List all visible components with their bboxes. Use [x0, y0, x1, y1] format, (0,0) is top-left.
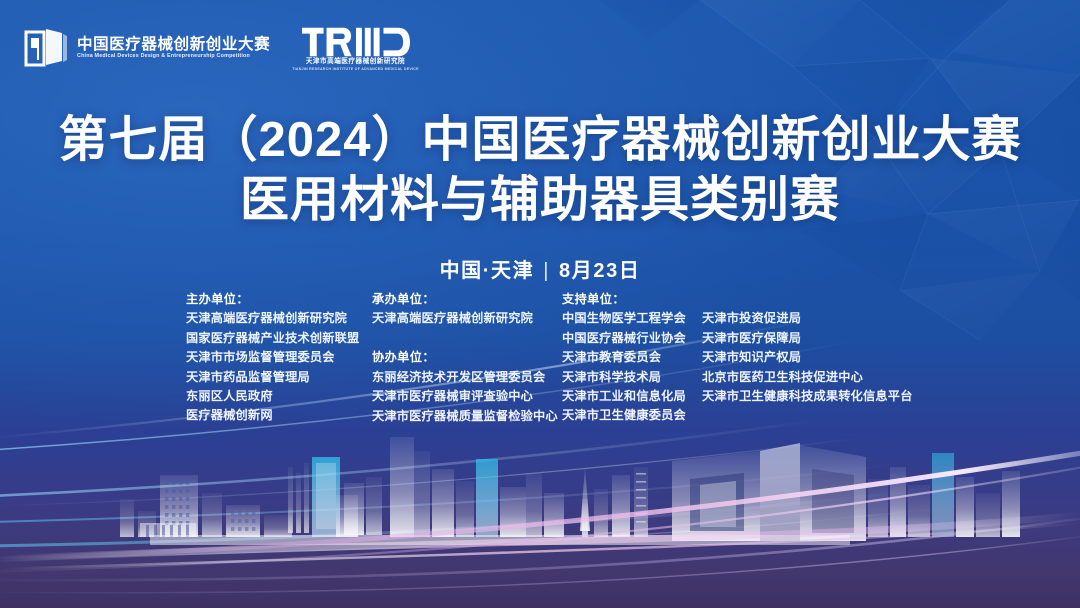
- organizer-item: 中国医疗器械行业协会: [562, 329, 702, 348]
- purple-light-sweep-decoration: [0, 430, 1080, 608]
- organizer-group: 协办单位： 东丽经济技术开发区管理委员会 天津市医疗器械审评查验中心 天津市医疗…: [372, 348, 562, 426]
- organizer-item: 天津市药品监督管理局: [186, 368, 372, 387]
- organizers-section: 主办单位： 天津高端医疗器械创新研究院 国家医疗器械产业技术创新联盟 天津市市场…: [186, 290, 946, 426]
- organizer-item: 东丽经济技术开发区管理委员会: [372, 368, 562, 387]
- organizer-item: 天津高端医疗器械创新研究院: [186, 309, 372, 328]
- institute-name-cn: 天津市高端医疗器械创新研究院: [306, 59, 405, 66]
- organizers-column-3: 支持单位： 中国生物医学工程学会 中国医疗器械行业协会 天津市教育委员会 天津市…: [562, 290, 702, 426]
- title-line-2: 医用材料与辅助器具类别赛: [0, 172, 1080, 229]
- event-date: 8月23日: [559, 260, 640, 282]
- organizer-item: 天津市知识产权局: [702, 348, 912, 367]
- poster-title-block: 第七届（2024）中国医疗器械创新创业大赛 医用材料与辅助器具类别赛: [0, 112, 1080, 229]
- organizer-item: 天津市卫生健康委员会: [562, 406, 702, 425]
- organizers-column-1: 主办单位： 天津高端医疗器械创新研究院 国家医疗器械产业技术创新联盟 天津市市场…: [186, 290, 372, 426]
- trimd-wordmark-icon: [302, 27, 410, 57]
- subtitle-separator: |: [543, 260, 550, 283]
- event-location-date: 中国·天津|8月23日: [0, 254, 1080, 283]
- poster-header: 中国医疗器械创新创业大赛 China Medical Devices Desig…: [0, 18, 1080, 78]
- organizer-item: 东丽区人民政府: [186, 387, 372, 406]
- institute-logo: 天津市高端医疗器械创新研究院 TIANJIN RESEARCH INSTITUT…: [292, 27, 419, 71]
- competition-logo: 中国医疗器械创新创业大赛 China Medical Devices Desig…: [24, 27, 270, 69]
- title-line-1: 第七届（2024）中国医疗器械创新创业大赛: [0, 112, 1080, 169]
- organizer-item: 天津市教育委员会: [562, 348, 702, 367]
- organizer-group: 主办单位： 天津高端医疗器械创新研究院 国家医疗器械产业技术创新联盟 天津市市场…: [186, 290, 372, 426]
- group-heading: 主办单位：: [186, 290, 372, 309]
- city-skyline-illustration: [0, 423, 1080, 608]
- organizer-item: 北京市医药卫生科技促进中心: [702, 368, 912, 387]
- organizer-item: 天津市投资促进局: [702, 309, 912, 328]
- group-heading: 协办单位：: [372, 348, 562, 367]
- organizer-item: 天津市市场监督管理委员会: [186, 348, 372, 367]
- organizer-group: 天津市投资促进局 天津市医疗保障局 天津市知识产权局 北京市医药卫生科技促进中心…: [702, 309, 912, 406]
- organizer-item: 天津市卫生健康科技成果转化信息平台: [702, 387, 912, 406]
- group-heading: 支持单位：: [562, 290, 702, 309]
- organizer-item: 天津市医疗器械审评查验中心: [372, 387, 562, 406]
- organizer-item: 天津高端医疗器械创新研究院: [372, 309, 562, 328]
- organizers-column-2: 承办单位： 天津高端医疗器械创新研究院 协办单位： 东丽经济技术开发区管理委员会…: [372, 290, 562, 426]
- competition-name-en: China Medical Devices Design & Entrepren…: [77, 54, 270, 60]
- open-door-book-icon: [24, 27, 68, 69]
- event-location: 中国·天津: [440, 260, 535, 282]
- organizer-item: 天津市医疗保障局: [702, 329, 912, 348]
- organizer-group: 承办单位： 天津高端医疗器械创新研究院: [372, 290, 562, 329]
- organizer-item: 天津市工业和信息化局: [562, 387, 702, 406]
- organizer-item: 国家医疗器械产业技术创新联盟: [186, 329, 372, 348]
- organizer-group: 支持单位： 中国生物医学工程学会 中国医疗器械行业协会 天津市教育委员会 天津市…: [562, 290, 702, 426]
- organizer-item: 医疗器械创新网: [186, 406, 372, 425]
- group-heading: 承办单位：: [372, 290, 562, 309]
- organizer-item: 天津市科学技术局: [562, 368, 702, 387]
- competition-logo-text: 中国医疗器械创新创业大赛 China Medical Devices Desig…: [77, 37, 270, 60]
- organizer-item: 中国生物医学工程学会: [562, 309, 702, 328]
- event-poster: 中国医疗器械创新创业大赛 China Medical Devices Desig…: [0, 0, 1080, 608]
- organizer-item: 天津市医疗器械质量监督检验中心: [372, 407, 562, 426]
- institute-name-en: TIANJIN RESEARCH INSTITUTE OF ADVANCED M…: [292, 68, 419, 72]
- competition-name-cn: 中国医疗器械创新创业大赛: [77, 37, 270, 53]
- organizers-column-4: 天津市投资促进局 天津市医疗保障局 天津市知识产权局 北京市医药卫生科技促进中心…: [702, 290, 912, 406]
